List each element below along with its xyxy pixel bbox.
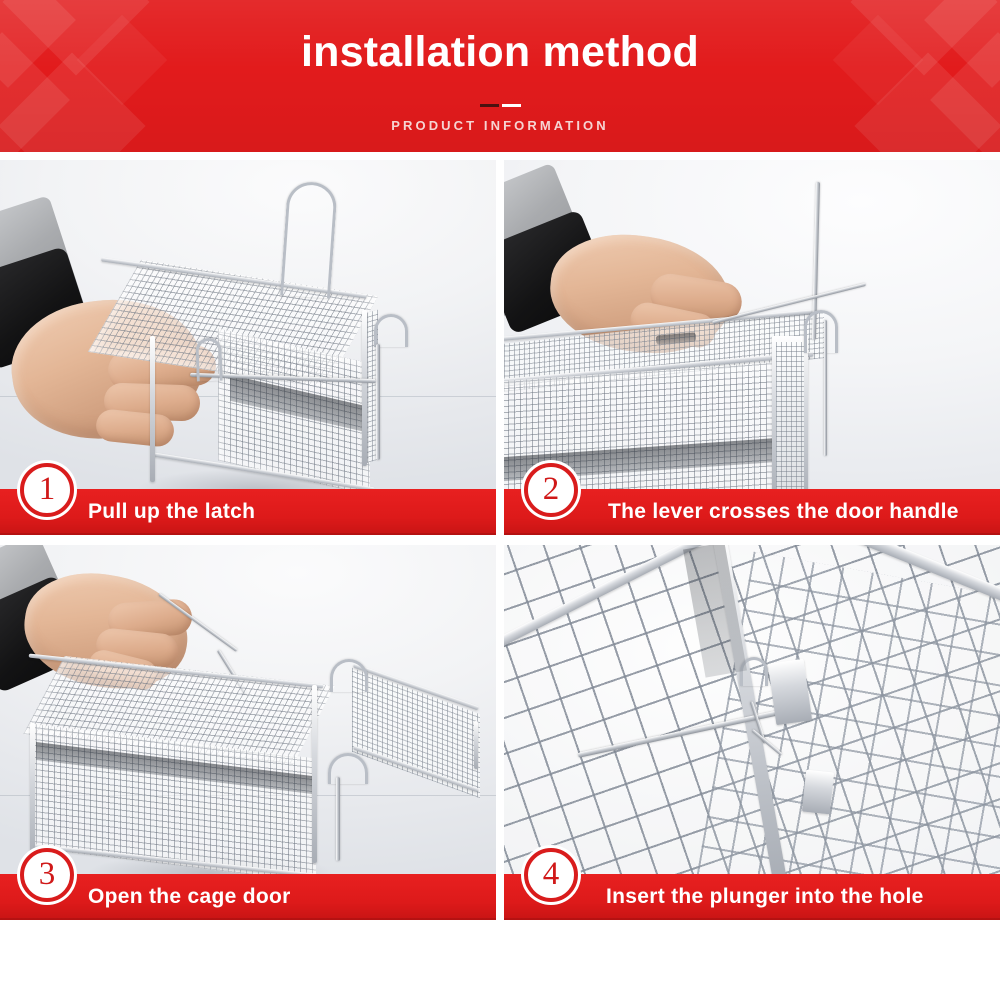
carry-handle [280, 180, 338, 298]
step-image-4 [504, 545, 1000, 890]
step-image-2 [504, 160, 1000, 505]
step-caption-text-2: The lever crosses the door handle [608, 489, 959, 535]
step-number-2: 2 [543, 473, 560, 506]
step-card-4[interactable]: Insert the plunger into the hole 4 [504, 545, 1000, 920]
divider-dash-light [502, 104, 521, 107]
cage-frame-edge [362, 310, 367, 466]
cage-frame-edge [312, 685, 317, 863]
step-image-3 [0, 545, 496, 890]
step-caption-text-4: Insert the plunger into the hole [606, 874, 924, 920]
step-number-4: 4 [543, 858, 560, 891]
step-caption-text-1: Pull up the latch [88, 489, 255, 535]
step-number-1: 1 [39, 473, 56, 506]
trigger-hole-plate [802, 770, 834, 815]
door-hinge-loop [330, 659, 368, 692]
step-card-3[interactable]: Open the cage door 3 [0, 545, 496, 920]
step-badge-1: 1 [20, 463, 74, 517]
step-number-3: 3 [39, 858, 56, 891]
step-caption-bar-1: Pull up the latch [0, 489, 496, 535]
step-caption-bar-3: Open the cage door [0, 874, 496, 920]
cage-frame-edge [150, 336, 155, 482]
divider-dash-dark [480, 104, 499, 107]
step-caption-bar-4: Insert the plunger into the hole [504, 874, 1000, 920]
step-card-2[interactable]: The lever crosses the door handle 2 [504, 160, 1000, 535]
latch-loop [374, 314, 408, 347]
latch-rod [376, 344, 380, 460]
step-card-1[interactable]: Pull up the latch 1 [0, 160, 496, 535]
step-badge-2: 2 [524, 463, 578, 517]
page-subtitle: PRODUCT INFORMATION [0, 118, 1000, 133]
step-badge-4: 4 [524, 848, 578, 902]
door-handle-rod [824, 320, 827, 456]
steps-grid: Pull up the latch 1 [0, 160, 1000, 938]
header-divider [0, 100, 1000, 110]
page-header: installation method PRODUCT INFORMATION [0, 0, 1000, 152]
latch-hook [195, 338, 222, 382]
page-title: installation method [0, 29, 1000, 76]
cage-side-panel [776, 342, 804, 502]
step-badge-3: 3 [20, 848, 74, 902]
step-caption-text-3: Open the cage door [88, 874, 291, 920]
door-handle-loop [804, 310, 838, 353]
cage-frame-edge [30, 723, 35, 861]
cage-door-frame [474, 721, 478, 769]
step-caption-bar-2: The lever crosses the door handle [504, 489, 1000, 535]
step-image-1 [0, 160, 496, 505]
door-hinge-rod [336, 777, 340, 861]
